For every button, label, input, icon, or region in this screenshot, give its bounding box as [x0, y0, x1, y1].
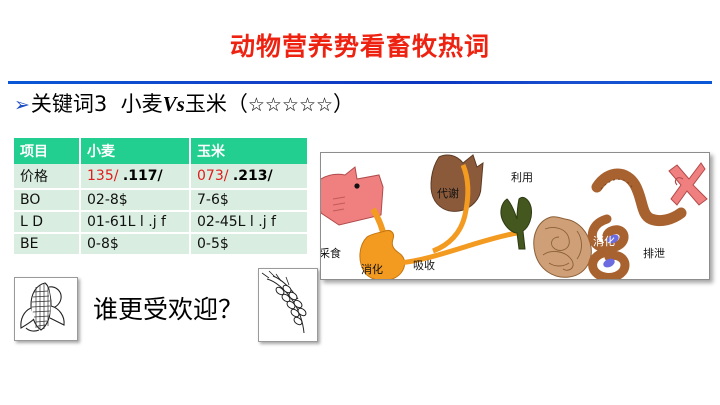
title-divider	[8, 81, 712, 84]
question-text: 谁更受欢迎？	[93, 290, 243, 326]
row-label: 价格	[14, 164, 80, 189]
table-cell: 02-8$	[80, 189, 190, 211]
rating-stars: ☆☆☆☆☆	[248, 94, 333, 116]
price-wheat-cell: 135/ .117/	[80, 164, 190, 189]
subheading: ➢关键词3 小麦Vs玉米（☆☆☆☆☆）	[14, 92, 354, 117]
comparison-table-wrap: 项目 小麦 玉米 价格 135/ .117/ 073/ .213/ BO 02-…	[14, 138, 307, 254]
corn-picture-frame	[14, 277, 78, 341]
row-label: BE	[14, 233, 80, 254]
price-wheat-bold: .117/	[123, 168, 163, 184]
table-cell: 02-45L l .j f	[190, 211, 307, 233]
row-label: L D	[14, 211, 80, 233]
rating-open-paren: （	[227, 92, 248, 116]
rating-close-paren: ）	[333, 92, 354, 116]
price-corn-bold: .213/	[233, 168, 273, 184]
table-cell: 01-61L l .j f	[80, 211, 190, 233]
keyword-label: 关键词3	[31, 92, 107, 116]
liver-shape	[431, 155, 483, 211]
label-digestion-stomach: 消化	[361, 261, 383, 277]
compare-right-item: 玉米	[185, 92, 227, 116]
table-row: 价格 135/ .117/ 073/ .213/	[14, 164, 307, 189]
small-intestine-shape	[534, 217, 592, 278]
row-label: BO	[14, 189, 80, 211]
table-cell: 0-8$	[80, 233, 190, 254]
wheat-picture-frame	[258, 268, 318, 342]
label-absorption: 吸收	[413, 257, 435, 273]
wheat-stalk-icon	[259, 269, 315, 339]
table-cell: 0-5$	[190, 233, 307, 254]
colon-shape	[597, 174, 681, 221]
table-header-cell: 小麦	[80, 138, 190, 164]
table-cell: 7-6$	[190, 189, 307, 211]
table-row: BO 02-8$ 7-6$	[14, 189, 307, 211]
label-metabolism: 代谢	[437, 185, 459, 201]
page-title: 动物营养势看畜牧热词	[0, 34, 720, 59]
digestion-diagram: 采食 消化 吸收 代谢 利用 消化 排泄	[320, 152, 710, 280]
label-utilization: 利用	[511, 169, 533, 185]
label-intake: 采食	[320, 245, 341, 261]
comparison-table: 项目 小麦 玉米 价格 135/ .117/ 073/ .213/ BO 02-…	[14, 138, 307, 254]
corn-cob-icon	[15, 278, 75, 338]
price-corn-red: 073/	[197, 168, 228, 184]
versus-label: Vs	[163, 92, 185, 116]
rectum-shape	[669, 163, 707, 205]
slide-canvas: 动物营养势看畜牧热词 ➢关键词3 小麦Vs玉米（☆☆☆☆☆） 项目 小麦 玉米 …	[0, 0, 720, 405]
table-header-cell: 玉米	[190, 138, 307, 164]
table-row: L D 01-61L l .j f 02-45L l .j f	[14, 211, 307, 233]
table-row: BE 0-8$ 0-5$	[14, 233, 307, 254]
label-excretion: 排泄	[643, 245, 665, 261]
bullet-arrow-icon: ➢	[14, 94, 30, 116]
table-header-row: 项目 小麦 玉米	[14, 138, 307, 164]
compare-left-item: 小麦	[121, 92, 163, 116]
label-digestion-intestine: 消化	[593, 233, 615, 249]
leaf-shape	[501, 197, 532, 249]
table-header-cell: 项目	[14, 138, 80, 164]
price-corn-cell: 073/ .213/	[190, 164, 307, 189]
price-wheat-red: 135/	[87, 168, 118, 184]
